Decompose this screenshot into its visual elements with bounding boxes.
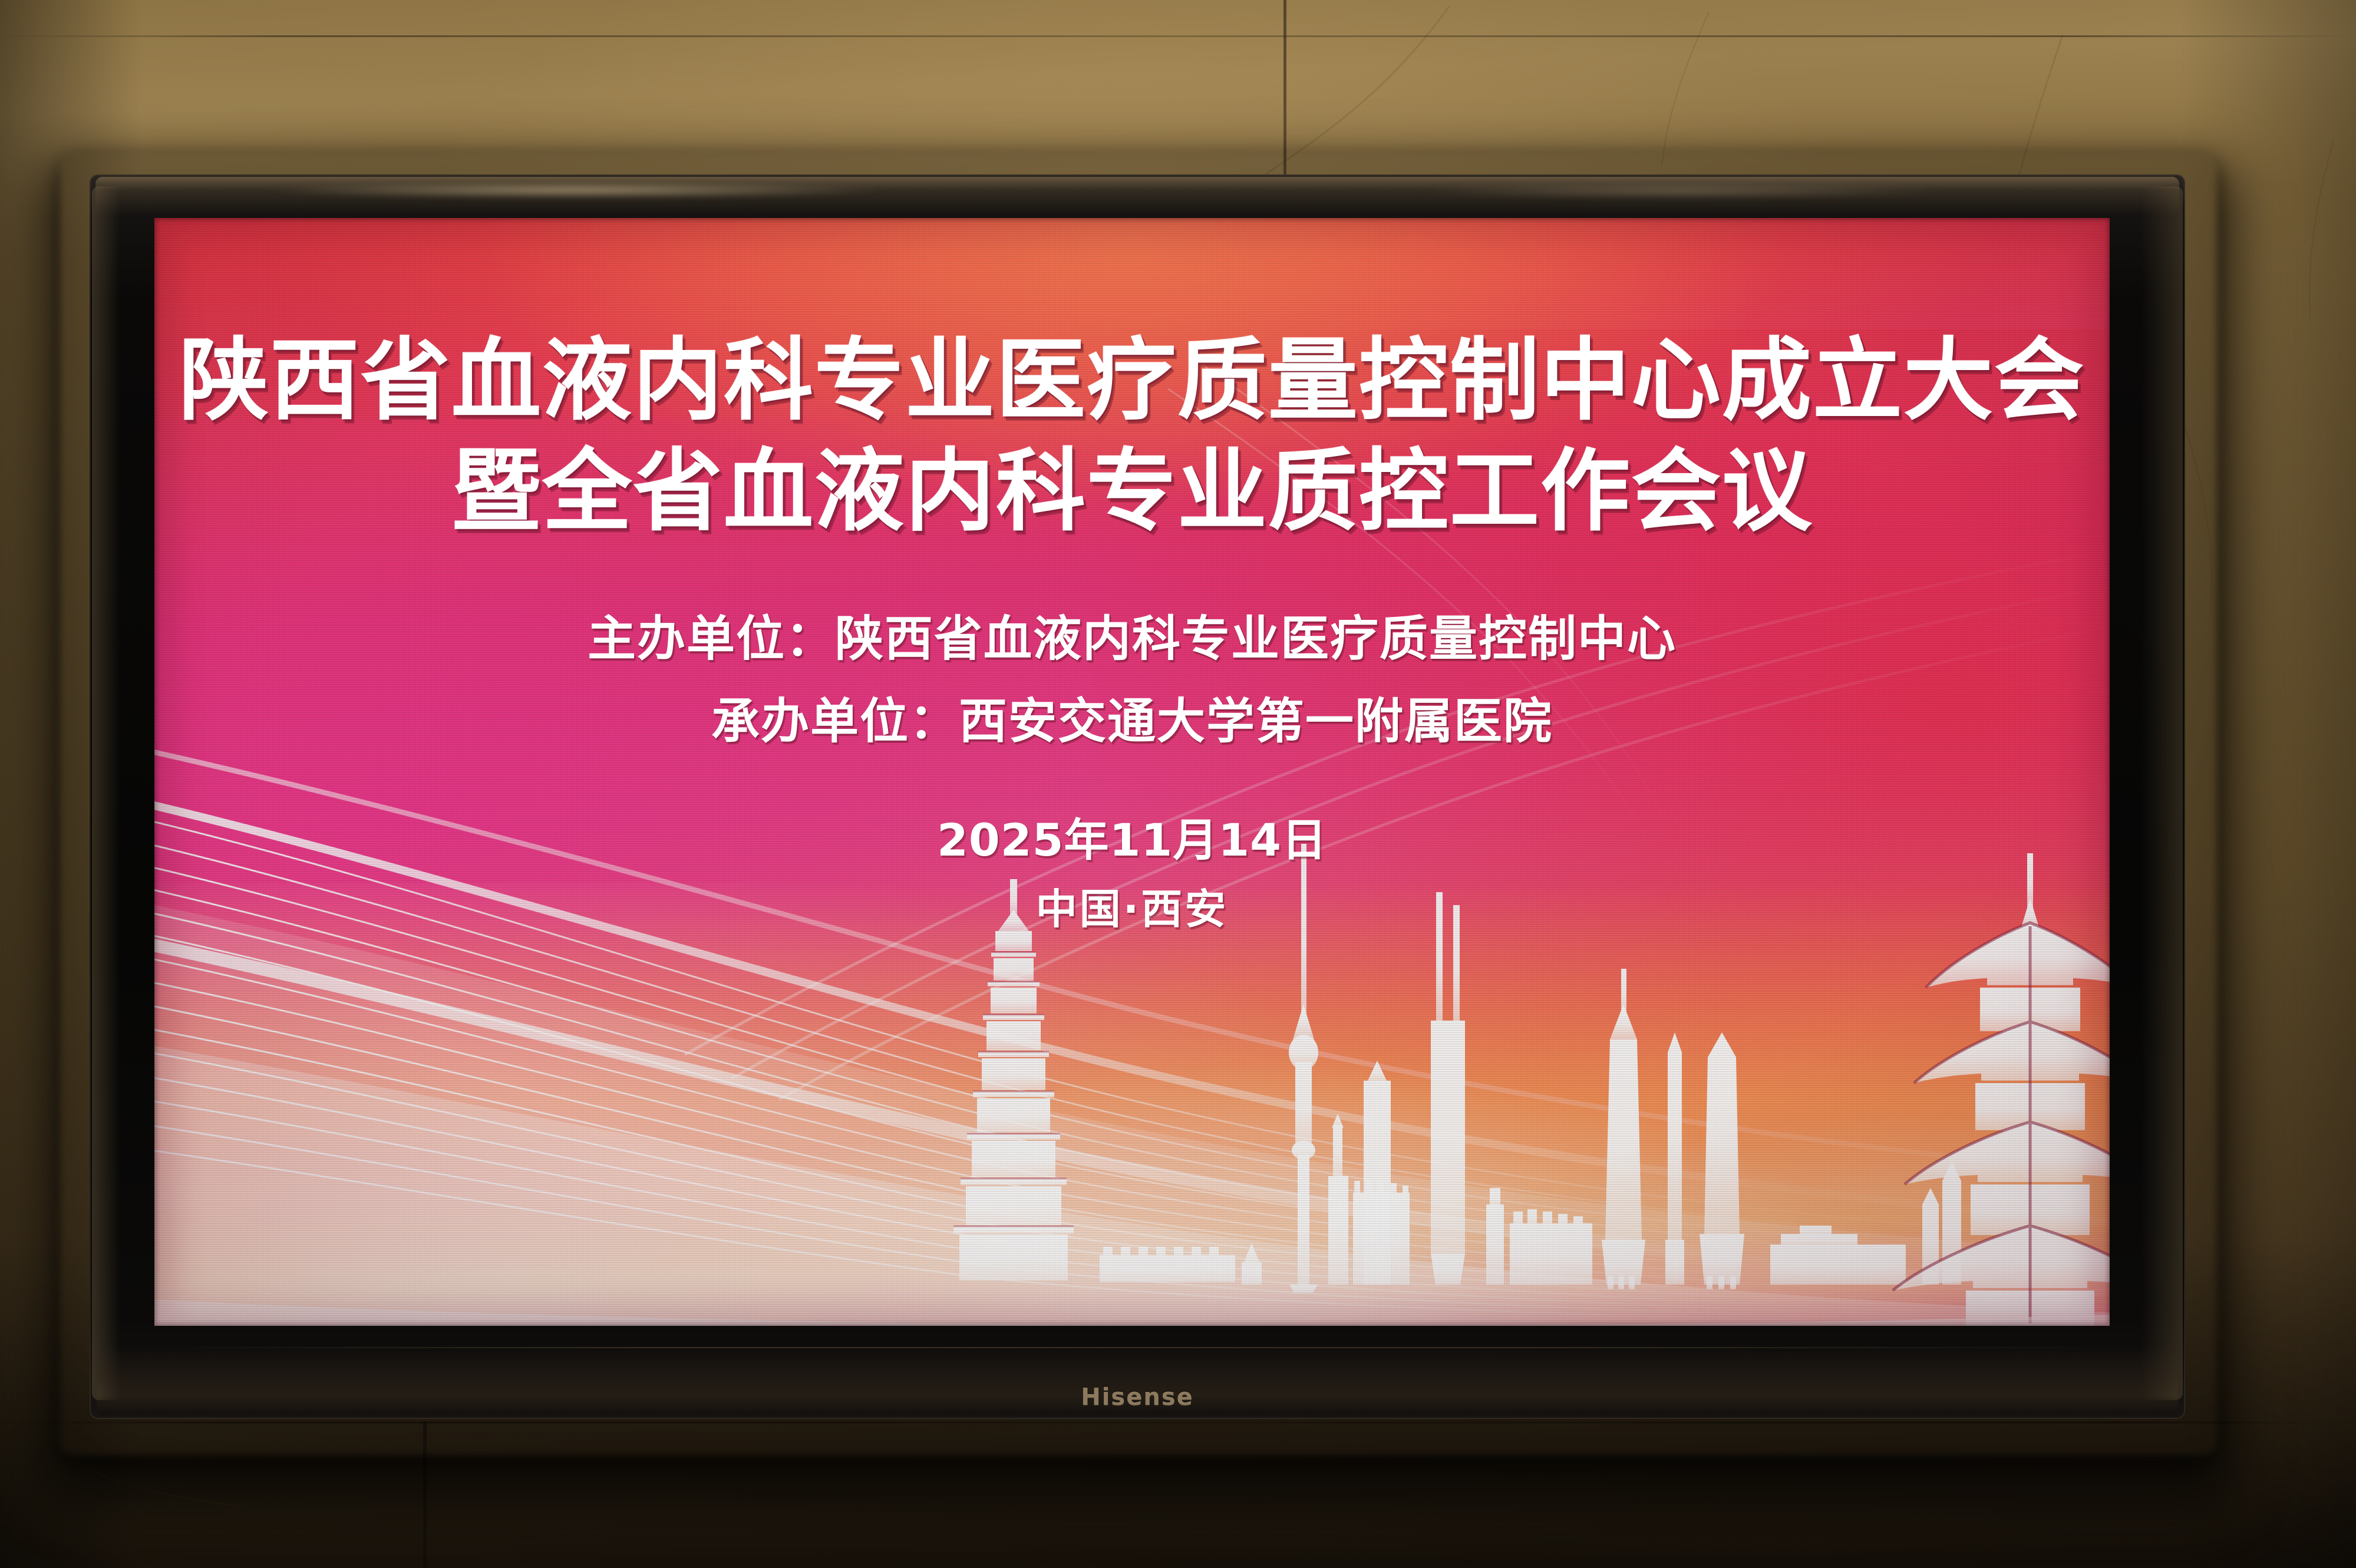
tv-brand-logo: Hisense xyxy=(90,1384,2185,1411)
host-line: 承办单位：西安交通大学第一附属医院 xyxy=(711,698,1553,746)
bezel-gloss-right xyxy=(2141,186,2183,1400)
bezel-gloss-left xyxy=(92,186,120,1400)
screen-panel[interactable]: 陕西省血液内科专业医疗质量控制中心成立大会 暨全省血液内科专业质控工作会议 主办… xyxy=(154,218,2110,1326)
bezel-specular-highlight-left xyxy=(266,183,885,198)
television-display[interactable]: 陕西省血液内科专业医疗质量控制中心成立大会 暨全省血液内科专业质控工作会议 主办… xyxy=(90,174,2185,1419)
event-location: 中国·西安 xyxy=(1036,889,1229,930)
screen-text-content: 陕西省血液内科专业医疗质量控制中心成立大会 暨全省血液内科专业质控工作会议 主办… xyxy=(154,218,2110,1326)
conference-title-line-2: 暨全省血液内科专业质控工作会议 xyxy=(451,447,1813,536)
event-date: 2025年11月14日 xyxy=(937,818,1327,863)
organizer-line: 主办单位：陕西省血液内科专业医疗质量控制中心 xyxy=(588,615,1677,663)
bezel-specular-highlight-right xyxy=(1415,185,1946,197)
conference-title-line-1: 陕西省血液内科专业医疗质量控制中心成立大会 xyxy=(179,336,2085,425)
wall-panel-seam-top xyxy=(0,35,2356,37)
